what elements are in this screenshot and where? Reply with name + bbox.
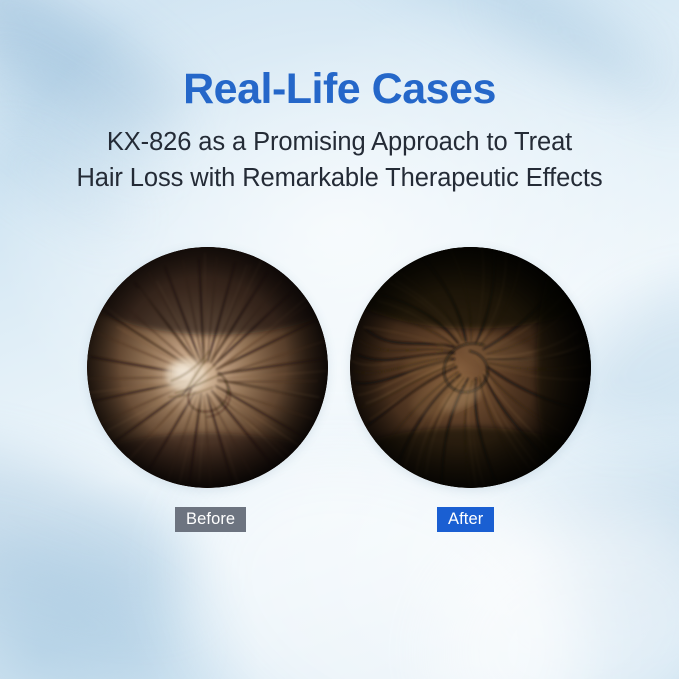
poster-canvas: Real-Life Cases KX-826 as a Promising Ap… <box>0 0 679 679</box>
shadow-streak <box>0 512 197 679</box>
headline-block: Real-Life Cases KX-826 as a Promising Ap… <box>0 66 679 196</box>
before-photo <box>87 247 328 488</box>
before-after-comparison <box>0 247 679 488</box>
page-subtitle-line-1: KX-826 as a Promising Approach to Treat <box>0 125 679 160</box>
page-title: Real-Life Cases <box>0 66 679 112</box>
after-photo <box>350 247 591 488</box>
page-subtitle: KX-826 as a Promising Approach to Treat … <box>0 125 679 195</box>
before-label-badge: Before <box>175 507 246 532</box>
after-label-badge: After <box>437 507 494 532</box>
page-subtitle-line-2: Hair Loss with Remarkable Therapeutic Ef… <box>0 161 679 196</box>
